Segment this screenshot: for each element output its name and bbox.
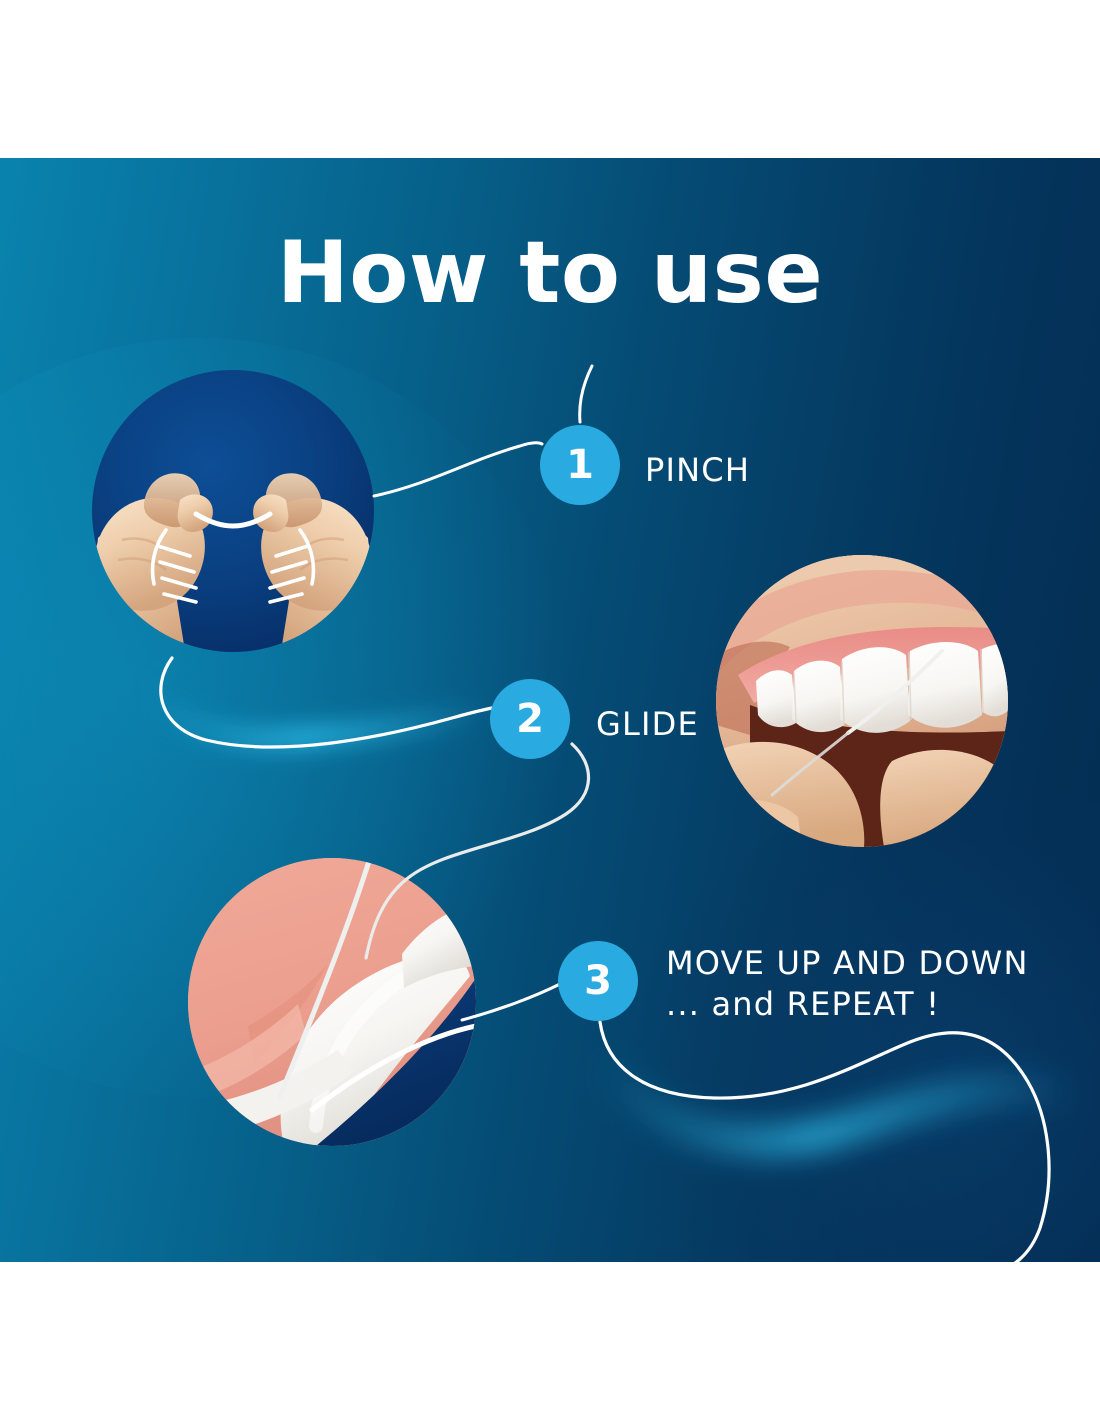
step-1-number-badge[interactable]: 1 <box>540 425 620 505</box>
step-2-label: GLIDE <box>596 704 699 745</box>
how-to-use-poster: How to use <box>0 158 1100 1262</box>
step-1-label: PINCH <box>645 450 750 491</box>
floss-glow-lower <box>600 1058 1080 1141</box>
step-3-label-line2: ... and REPEAT ! <box>666 984 1029 1025</box>
floss-strand-hands-to-step1 <box>374 443 542 496</box>
step-3-label-line1: MOVE UP AND DOWN <box>666 943 1029 984</box>
floss-glow-upper <box>150 668 490 739</box>
floss-strand-gum-to-step3 <box>462 984 560 1020</box>
step-3-label: MOVE UP AND DOWN ... and REPEAT ! <box>666 943 1029 1025</box>
floss-strand-top <box>580 366 592 422</box>
step-2-number-badge[interactable]: 2 <box>490 679 570 759</box>
floss-strand-step2-to-gum <box>366 744 589 958</box>
step-3-number-badge[interactable]: 3 <box>558 941 638 1021</box>
